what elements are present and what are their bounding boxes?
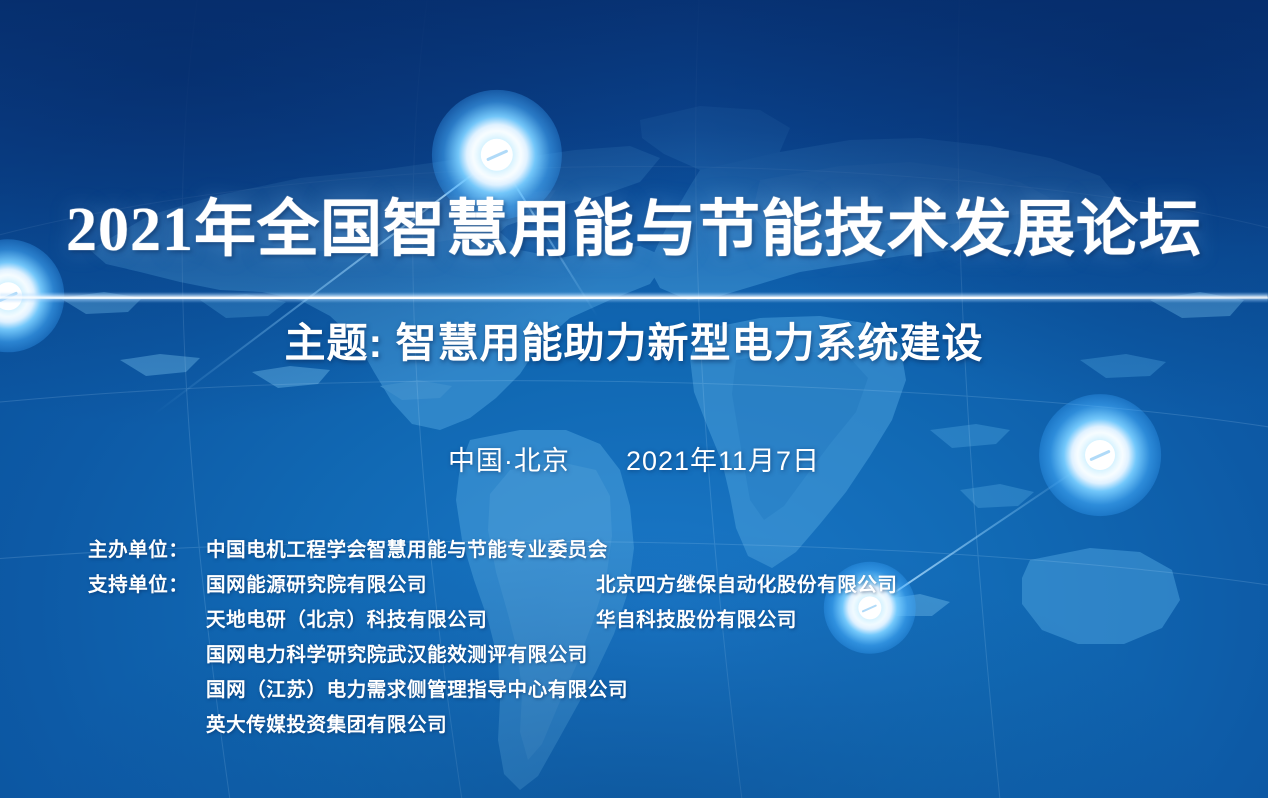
support-row: 天地电研（北京）科技有限公司 华自科技股份有限公司	[206, 603, 797, 638]
support-org: 国网（江苏）电力需求侧管理指导中心有限公司	[206, 673, 628, 708]
host-line: 主办单位： 中国电机工程学会智慧用能与节能专业委员会	[88, 533, 898, 568]
host-value: 中国电机工程学会智慧用能与节能专业委员会	[206, 533, 608, 568]
support-org: 国网电力科学研究院武汉能效测评有限公司	[206, 638, 588, 673]
support-label: 支持单位：	[88, 568, 206, 603]
poster-content: 2021年全国智慧用能与节能技术发展论坛 主题: 智慧用能助力新型电力系统建设 …	[0, 0, 1268, 798]
page-title: 2021年全国智慧用能与节能技术发展论坛	[0, 199, 1268, 261]
support-org: 国网能源研究院有限公司	[206, 568, 596, 603]
support-row: 国网能源研究院有限公司 北京四方继保自动化股份有限公司	[206, 568, 898, 603]
host-label: 主办单位：	[88, 533, 206, 568]
support-org: 华自科技股份有限公司	[596, 603, 797, 638]
support-line: 支持单位： 国网能源研究院有限公司 北京四方继保自动化股份有限公司	[88, 568, 898, 603]
support-line: 天地电研（北京）科技有限公司 华自科技股份有限公司	[88, 603, 898, 638]
event-meta: 中国·北京 2021年11月7日	[0, 439, 1268, 478]
support-line: 国网（江苏）电力需求侧管理指导中心有限公司	[88, 673, 898, 708]
support-org: 英大传媒投资集团有限公司	[206, 708, 447, 743]
poster-subtitle: 主题: 智慧用能助力新型电力系统建设	[0, 323, 1268, 364]
support-line: 国网电力科学研究院武汉能效测评有限公司	[88, 638, 898, 673]
event-location: 中国·北京	[448, 439, 570, 478]
organizer-block: 主办单位： 中国电机工程学会智慧用能与节能专业委员会 支持单位： 国网能源研究院…	[88, 533, 898, 743]
support-org: 北京四方继保自动化股份有限公司	[596, 568, 898, 603]
event-date: 2021年11月7日	[626, 439, 820, 478]
conference-poster: 2021年全国智慧用能与节能技术发展论坛 主题: 智慧用能助力新型电力系统建设 …	[0, 0, 1268, 798]
support-org: 天地电研（北京）科技有限公司	[206, 603, 596, 638]
support-line: 英大传媒投资集团有限公司	[88, 708, 898, 743]
